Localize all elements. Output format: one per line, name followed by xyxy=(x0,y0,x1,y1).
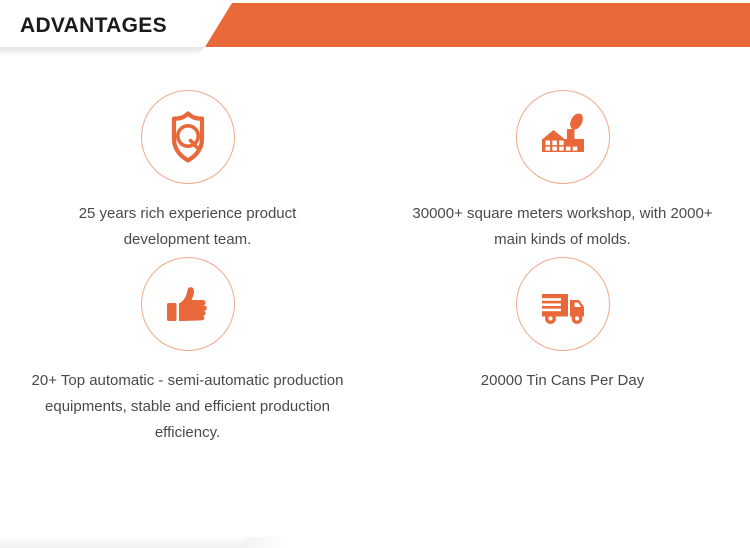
advantages-banner: ADVANTAGES xyxy=(0,0,750,56)
advantage-item-workshop: 30000+ square meters workshop, with 2000… xyxy=(375,90,750,253)
advantages-row-2: 20+ Top automatic - semi-automatic produ… xyxy=(0,257,750,446)
advantages-row-1: 25 years rich experience product develop… xyxy=(0,90,750,253)
advantage-text: 20000 Tin Cans Per Day xyxy=(413,368,713,394)
advantage-item-capacity: 20000 Tin Cans Per Day xyxy=(375,257,750,446)
delivery-truck-icon xyxy=(516,257,610,351)
advantages-grid: 25 years rich experience product develop… xyxy=(0,90,750,446)
page-title: ADVANTAGES xyxy=(20,14,167,38)
advantage-text: 30000+ square meters workshop, with 2000… xyxy=(403,201,723,253)
advantage-item-quality: 25 years rich experience product develop… xyxy=(0,90,375,253)
banner-shadow-strip xyxy=(0,47,228,56)
thumbs-up-icon xyxy=(141,257,235,351)
advantage-item-equipment: 20+ Top automatic - semi-automatic produ… xyxy=(0,257,375,446)
advantage-text: 20+ Top automatic - semi-automatic produ… xyxy=(28,368,348,446)
advantage-text: 25 years rich experience product develop… xyxy=(38,201,338,253)
bottom-shadow-strip xyxy=(0,537,245,548)
factory-icon xyxy=(516,90,610,184)
shield-quality-icon xyxy=(141,90,235,184)
